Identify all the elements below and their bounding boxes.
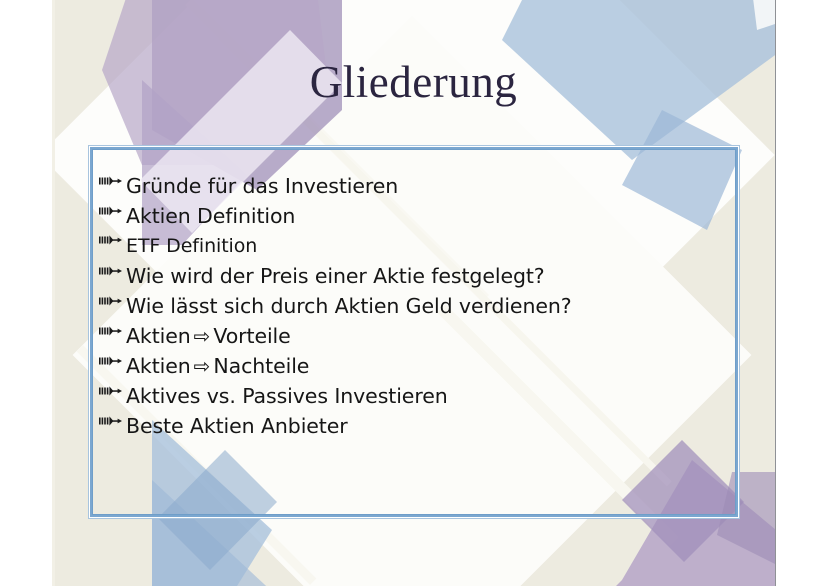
slide-title: Gliederung — [52, 58, 775, 108]
list-item-label: Gründe für das Investieren — [126, 174, 398, 198]
list-item[interactable]: Wie lässt sich durch Aktien Geld verdien… — [98, 294, 758, 324]
hatched-arrow-bullet-icon — [98, 262, 124, 280]
list-item-label: Wie wird der Preis einer Aktie festgeleg… — [126, 264, 545, 288]
list-item[interactable]: Gründe für das Investieren — [98, 174, 758, 204]
hatched-arrow-bullet-icon — [98, 292, 124, 310]
hatched-arrow-bullet-icon — [98, 382, 124, 400]
list-item-label: ETF Definition — [126, 235, 257, 257]
list-item-label: Beste Aktien Anbieter — [126, 414, 348, 438]
slide-sheet: Gliederung — [52, 0, 776, 586]
rightwards-arrow-icon: ⇨ — [191, 324, 214, 348]
hatched-arrow-bullet-icon — [98, 231, 124, 249]
list-item[interactable]: Aktien Definition — [98, 204, 758, 234]
hatched-arrow-bullet-icon — [98, 322, 124, 340]
list-item-label-secondary: Vorteile — [213, 324, 290, 348]
list-item-label: Wie lässt sich durch Aktien Geld verdien… — [126, 294, 572, 318]
outline-bullet-list[interactable]: Gründe für das Investieren — [98, 174, 758, 444]
list-item-label: Aktien Definition — [126, 204, 295, 228]
list-item[interactable]: Aktien ⇨ Nachteile — [98, 354, 758, 384]
rightwards-arrow-icon: ⇨ — [191, 354, 214, 378]
presentation-slide-canvas: Gliederung — [0, 0, 828, 586]
hatched-arrow-bullet-icon — [98, 172, 124, 190]
list-item-label-secondary: Nachteile — [213, 354, 309, 378]
hatched-arrow-bullet-icon — [98, 352, 124, 370]
list-item[interactable]: Aktien ⇨ Vorteile — [98, 324, 758, 354]
list-item[interactable]: Aktives vs. Passives Investieren — [98, 384, 758, 414]
hatched-arrow-bullet-icon — [98, 202, 124, 220]
list-item-label: Aktien — [126, 354, 191, 378]
list-item-label: Aktien — [126, 324, 191, 348]
list-item[interactable]: Wie wird der Preis einer Aktie festgeleg… — [98, 264, 758, 294]
list-item-label: Aktives vs. Passives Investieren — [126, 384, 448, 408]
list-item[interactable]: ETF Definition — [98, 234, 758, 264]
list-item[interactable]: Beste Aktien Anbieter — [98, 414, 758, 444]
hatched-arrow-bullet-icon — [98, 412, 124, 430]
